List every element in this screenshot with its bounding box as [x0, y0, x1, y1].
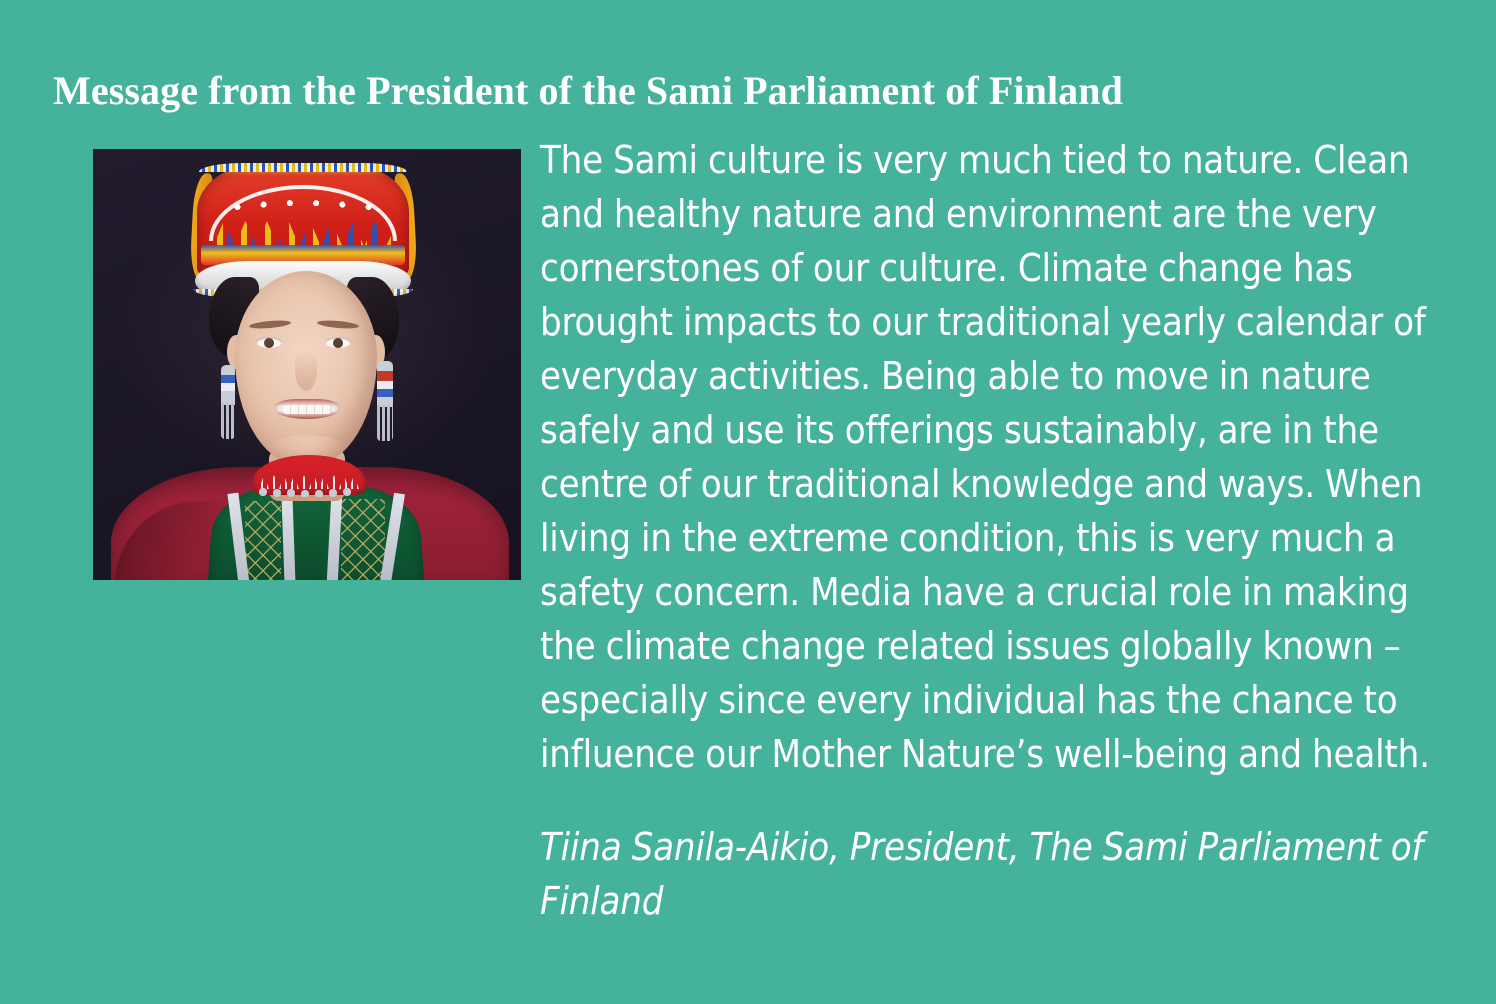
message-body: The Sami culture is very much tied to na…	[540, 133, 1436, 928]
garment-placket	[293, 495, 319, 580]
earring-right	[377, 361, 393, 441]
headdress-bead-trim-top	[199, 163, 407, 172]
earring-left	[221, 365, 235, 439]
collar-silver-beads	[257, 487, 361, 497]
headdress-cross-beadwork	[221, 195, 385, 219]
teeth	[283, 405, 331, 414]
pupil-left	[264, 338, 274, 348]
embroidery-lattice-right	[341, 499, 385, 580]
page-root: Message from the President of the Sami P…	[0, 0, 1496, 1004]
nose	[295, 349, 317, 391]
message-attribution: Tiina Sanila-Aikio, President, The Sami …	[540, 820, 1436, 928]
portrait-figure	[93, 149, 521, 580]
page-title: Message from the President of the Sami P…	[53, 67, 1453, 115]
embroidery-lattice-left	[245, 501, 281, 580]
pupil-right	[333, 338, 343, 348]
portrait-photo	[93, 149, 521, 580]
message-paragraph: The Sami culture is very much tied to na…	[540, 133, 1436, 781]
